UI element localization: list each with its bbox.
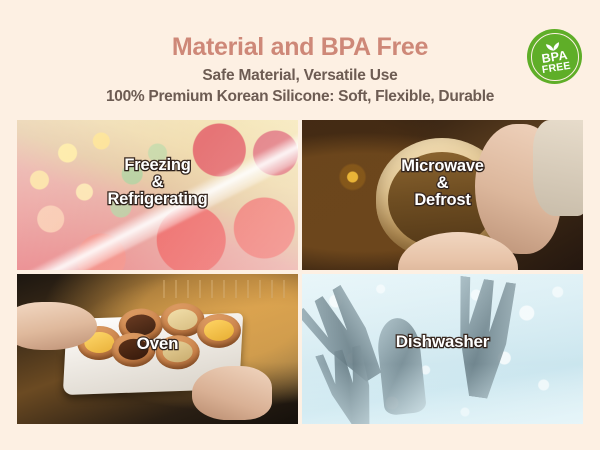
panel-label-oven: Oven [17,335,298,353]
panel-microwave-defrost: Microwave & Defrost [302,120,583,270]
panel-dishwasher: Dishwasher [302,274,583,424]
oven-rack [163,280,292,298]
badge-content: BPA FREE [523,25,586,88]
label-line-3: Defrost [302,192,583,209]
panel-oven: Oven [17,274,298,424]
panel-label-dishwasher: Dishwasher [302,333,583,351]
panel-label-freezing: Freezing & Refrigerating [17,157,298,208]
feature-image-grid: Freezing & Refrigerating Microwave & Def… [17,120,583,426]
label-line-1: Oven [17,335,298,353]
header: Material and BPA Free Safe Material, Ver… [0,0,600,118]
bpa-free-badge: BPA FREE [527,29,582,84]
label-line-1: Microwave [302,158,583,175]
panel-freezing-refrigerating: Freezing & Refrigerating [17,120,298,270]
label-line-1: Dishwasher [302,333,583,351]
label-line-1: Freezing [17,157,298,174]
subtitle-line-2: 100% Premium Korean Silicone: Soft, Flex… [0,88,600,106]
hand-right [192,366,272,420]
label-line-2: & [302,175,583,192]
label-line-3: Refrigerating [17,191,298,208]
page-title: Material and BPA Free [0,34,600,60]
subtitle-line-1: Safe Material, Versatile Use [0,67,600,85]
label-line-2: & [17,174,298,191]
panel-label-microwave: Microwave & Defrost [302,158,583,209]
badge-text-free: FREE [541,60,571,75]
